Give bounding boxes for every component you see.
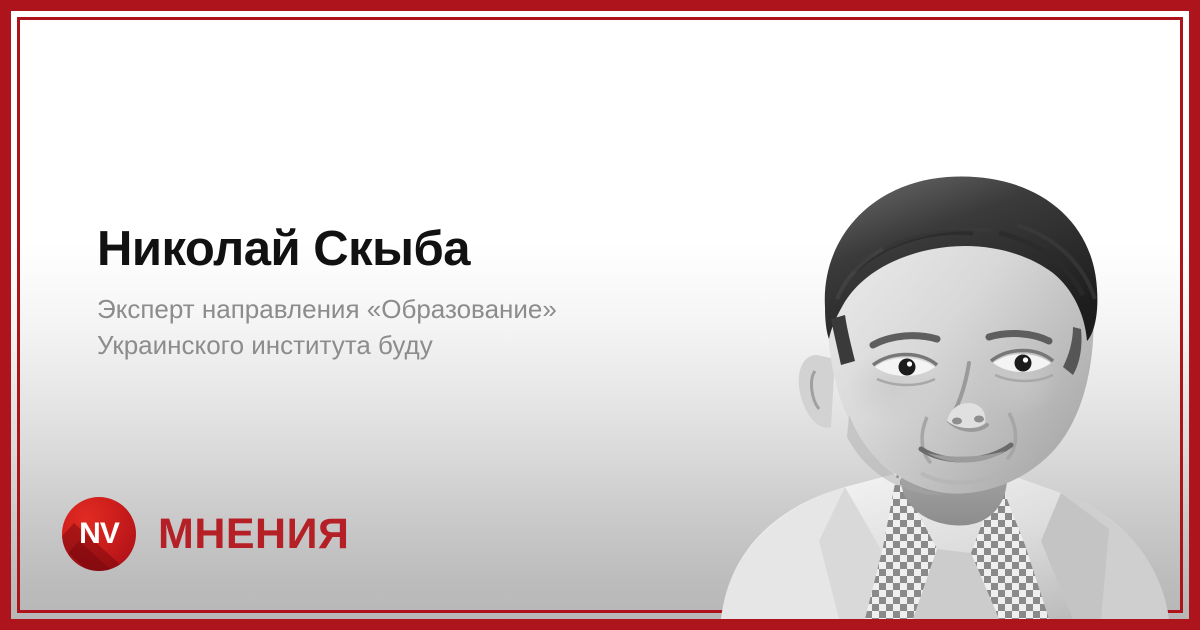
- nv-logo-text: NV: [62, 519, 136, 549]
- nv-opinions-logo[interactable]: NV МНЕНИЯ: [62, 497, 349, 571]
- nv-circle-icon: NV: [62, 497, 136, 571]
- author-role: Эксперт направления «Образование» Украин…: [97, 291, 797, 364]
- opinion-author-card: Николай Скыба Эксперт направления «Образ…: [0, 0, 1200, 630]
- logo-wordmark: МНЕНИЯ: [158, 513, 349, 556]
- author-role-line-2: Украинского института буду: [97, 327, 797, 363]
- author-role-line-1: Эксперт направления «Образование»: [97, 291, 797, 327]
- author-text-block: Николай Скыба Эксперт направления «Образ…: [97, 222, 797, 364]
- page-title: Николай Скыба: [97, 222, 797, 277]
